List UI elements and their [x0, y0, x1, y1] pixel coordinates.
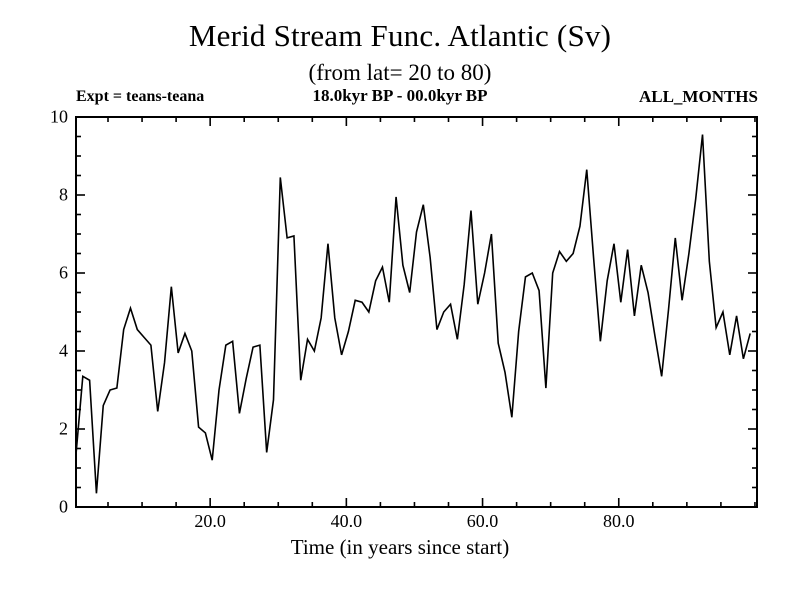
y-tick-label: 4: [26, 341, 68, 362]
x-tick-label: 20.0: [194, 511, 226, 532]
x-tick-label: 80.0: [603, 511, 635, 532]
y-tick-label-wrap: 4: [26, 351, 68, 372]
y-tick-label: 0: [26, 497, 68, 518]
y-tick-label: 8: [26, 185, 68, 206]
y-tick-label-wrap: 2: [26, 429, 68, 450]
data-series-line: [76, 135, 750, 494]
y-tick-label-wrap: 6: [26, 273, 68, 294]
y-tick-label: 2: [26, 419, 68, 440]
plot-frame: [76, 117, 757, 507]
y-tick-label: 6: [26, 263, 68, 284]
y-tick-label: 10: [26, 107, 68, 128]
chart-plot-area: [0, 0, 800, 600]
x-tick-label: 40.0: [331, 511, 363, 532]
y-tick-label-wrap: 8: [26, 195, 68, 216]
y-tick-label-wrap: 0: [26, 507, 68, 528]
y-tick-label-wrap: 10: [26, 117, 68, 138]
x-tick-label: 60.0: [467, 511, 499, 532]
figure: Merid Stream Func. Atlantic (Sv) (from l…: [0, 0, 800, 600]
